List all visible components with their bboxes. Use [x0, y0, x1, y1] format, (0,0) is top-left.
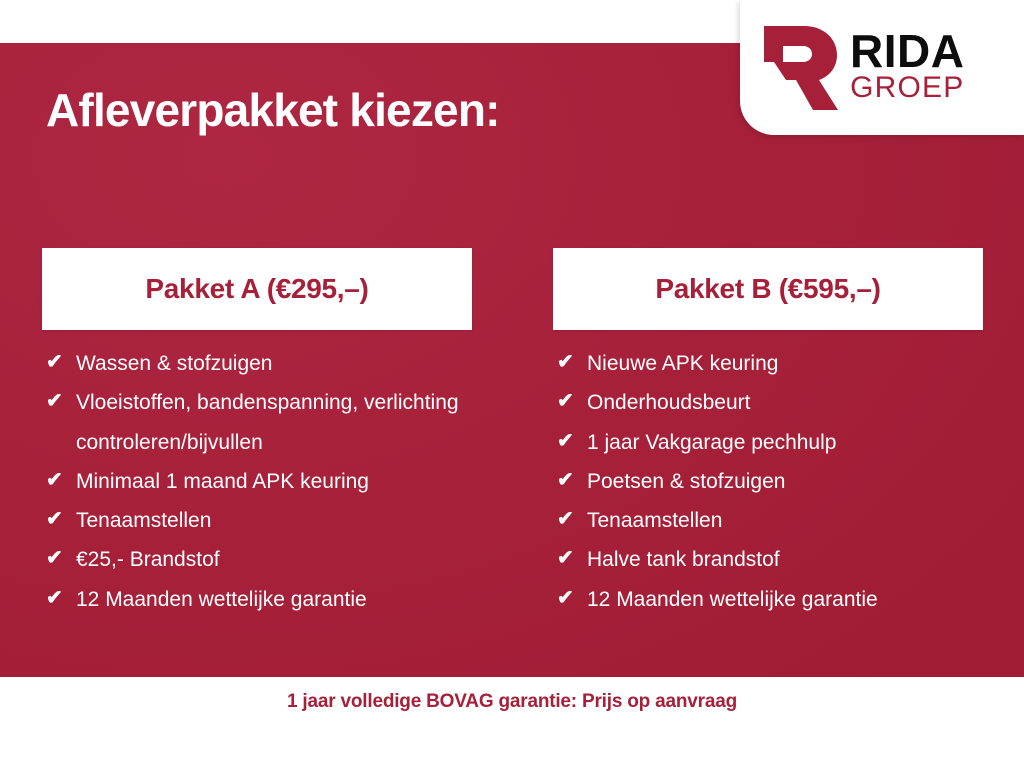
package-a-feature-list: ✔ Wassen & stofzuigen ✔ Vloeistoffen, ba… — [42, 344, 472, 619]
slide-root: Afleverpakket kiezen: Pakket A (€295,–) … — [0, 0, 1024, 768]
list-item-label: €25,- Brandstof — [76, 540, 472, 579]
list-item: ✔ Halve tank brandstof — [553, 540, 983, 579]
check-icon: ✔ — [46, 540, 76, 577]
check-icon: ✔ — [557, 344, 587, 381]
list-item-label: Poetsen & stofzuigen — [587, 462, 983, 501]
check-icon: ✔ — [557, 423, 587, 460]
list-item: ✔ €25,- Brandstof — [42, 540, 472, 579]
list-item: ✔ 1 jaar Vakgarage pechhulp — [553, 423, 983, 462]
package-b-feature-list: ✔ Nieuwe APK keuring ✔ Onderhoudsbeurt ✔… — [553, 344, 983, 619]
package-a-title: Pakket A (€295,–) — [145, 273, 368, 305]
red-background-panel: Afleverpakket kiezen: Pakket A (€295,–) … — [0, 43, 1024, 677]
list-item-label: Vloeistoffen, bandenspanning, verlichtin… — [76, 383, 472, 462]
list-item: ✔ 12 Maanden wettelijke garantie — [42, 580, 472, 619]
list-item: ✔ Vloeistoffen, bandenspanning, verlicht… — [42, 383, 472, 462]
list-item: ✔ Nieuwe APK keuring — [553, 344, 983, 383]
package-card-a: Pakket A (€295,–) ✔ Wassen & stofzuigen … — [42, 248, 472, 619]
brand-subtitle: GROEP — [850, 74, 964, 102]
check-icon: ✔ — [557, 501, 587, 538]
check-icon: ✔ — [46, 580, 76, 617]
list-item: ✔ Tenaamstellen — [553, 501, 983, 540]
package-b-header: Pakket B (€595,–) — [553, 248, 983, 330]
check-icon: ✔ — [557, 580, 587, 617]
check-icon: ✔ — [557, 462, 587, 499]
check-icon: ✔ — [46, 344, 76, 381]
list-item-label: Tenaamstellen — [587, 501, 983, 540]
package-b-title: Pakket B (€595,–) — [655, 273, 880, 305]
list-item-label: Minimaal 1 maand APK keuring — [76, 462, 472, 501]
brand-wordmark: RIDA GROEP — [850, 30, 964, 106]
list-item: ✔ Tenaamstellen — [42, 501, 472, 540]
list-item-label: Nieuwe APK keuring — [587, 344, 983, 383]
list-item: ✔ Wassen & stofzuigen — [42, 344, 472, 383]
list-item: ✔ Poetsen & stofzuigen — [553, 462, 983, 501]
list-item-label: 12 Maanden wettelijke garantie — [587, 580, 983, 619]
footer-note: 1 jaar volledige BOVAG garantie: Prijs o… — [287, 691, 737, 768]
list-item-label: Tenaamstellen — [76, 501, 472, 540]
footer-bar: 1 jaar volledige BOVAG garantie: Prijs o… — [0, 677, 1024, 768]
package-card-b: Pakket B (€595,–) ✔ Nieuwe APK keuring ✔… — [553, 248, 983, 619]
list-item: ✔ Minimaal 1 maand APK keuring — [42, 462, 472, 501]
list-item-label: Onderhoudsbeurt — [587, 383, 983, 422]
check-icon: ✔ — [46, 501, 76, 538]
page-title: Afleverpakket kiezen: — [46, 83, 500, 137]
check-icon: ✔ — [557, 540, 587, 577]
rida-r-monogram-icon — [758, 22, 840, 114]
brand-name: RIDA — [850, 30, 964, 72]
list-item-label: 12 Maanden wettelijke garantie — [76, 580, 472, 619]
package-a-header: Pakket A (€295,–) — [42, 248, 472, 330]
check-icon: ✔ — [46, 383, 76, 420]
packages-container: Pakket A (€295,–) ✔ Wassen & stofzuigen … — [42, 248, 983, 619]
list-item-label: Wassen & stofzuigen — [76, 344, 472, 383]
check-icon: ✔ — [557, 383, 587, 420]
check-icon: ✔ — [46, 462, 76, 499]
list-item: ✔ Onderhoudsbeurt — [553, 383, 983, 422]
brand-logo-panel: RIDA GROEP — [740, 0, 1024, 135]
list-item: ✔ 12 Maanden wettelijke garantie — [553, 580, 983, 619]
list-item-label: 1 jaar Vakgarage pechhulp — [587, 423, 983, 462]
list-item-label: Halve tank brandstof — [587, 540, 983, 579]
